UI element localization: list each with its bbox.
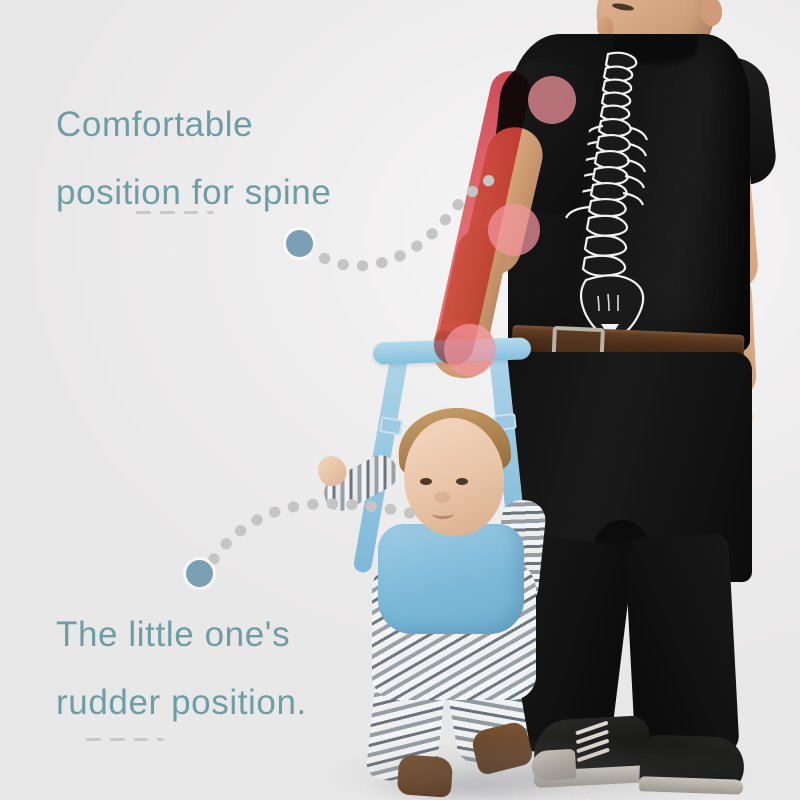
toddler-mouth	[432, 508, 454, 519]
bottom-caption-line2: rudder position.	[56, 678, 307, 728]
adult-floor-shadow	[330, 740, 750, 800]
bottom-callout-dotted-trail	[198, 486, 428, 596]
dash	[184, 211, 198, 214]
bottom-caption: The little one'srudder position.	[56, 610, 307, 727]
dash	[110, 738, 125, 741]
bottom-caption-underline	[86, 738, 164, 741]
product-image: Comfortableposition for spine The little…	[0, 0, 800, 800]
hand-joint-marker	[444, 324, 496, 376]
top-caption-line2: position for spine	[56, 168, 331, 218]
toddler-left-eye	[420, 478, 432, 485]
top-callout-dotted-trail	[300, 170, 520, 300]
top-caption-line1: Comfortable	[56, 105, 253, 144]
dash	[136, 211, 151, 214]
dash	[157, 738, 164, 741]
bottom-callout-dot	[186, 560, 213, 587]
dash	[86, 738, 101, 741]
top-caption: Comfortableposition for spine	[56, 100, 331, 217]
shoulder-joint-marker	[528, 76, 576, 124]
top-caption-underline	[136, 211, 214, 214]
toddler-right-eye	[456, 478, 468, 485]
top-callout-dot	[286, 230, 313, 257]
dash	[207, 211, 214, 214]
toddler-nose	[434, 492, 450, 503]
dash	[134, 738, 148, 741]
dash	[160, 211, 175, 214]
bottom-caption-line1: The little one's	[56, 615, 290, 654]
